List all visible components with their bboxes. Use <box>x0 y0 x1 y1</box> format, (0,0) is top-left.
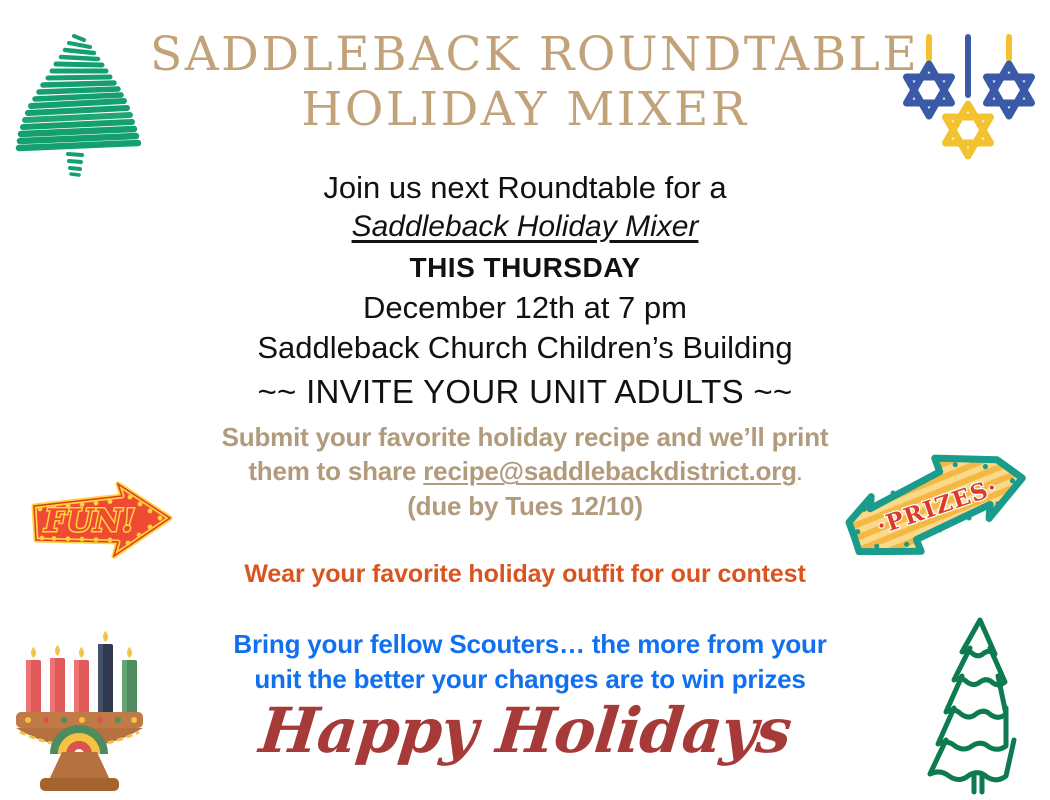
recipe-line-1: Submit your favorite holiday recipe and … <box>120 420 930 454</box>
kinara-flames <box>31 631 132 658</box>
title-line-2: HOLIDAY MIXER <box>150 83 900 138</box>
body-line-date-time: December 12th at 7 pm <box>0 288 1050 328</box>
star-of-david-right <box>987 64 1032 116</box>
star-string-left <box>926 34 932 62</box>
body-line-invite: ~~ INVITE YOUR UNIT ADULTS ~~ <box>0 371 1050 413</box>
flyer-canvas: SADDLEBACK ROUNDTABLE HOLIDAY MIXER Join… <box>0 0 1050 800</box>
recipe-email-link[interactable]: recipe@saddlebackdistrict.org <box>423 456 797 486</box>
recipe-line-2: them to share recipe@saddlebackdistrict.… <box>120 454 930 488</box>
fun-marquee-arrow-icon: FUN! <box>26 478 178 566</box>
costume-contest-note: Wear your favorite holiday outfit for ou… <box>0 560 1050 589</box>
fun-arrow-label: FUN! <box>44 503 136 539</box>
event-details: Join us next Roundtable for a Saddleback… <box>0 168 1050 413</box>
happy-holidays-text: Happy Holidays <box>256 694 794 767</box>
recipe-line-2-suffix: . <box>797 464 802 484</box>
body-line-day: THIS THURSDAY <box>0 250 1050 286</box>
closing-greeting: Happy Holidays <box>0 694 1050 767</box>
star-of-david-center <box>946 104 991 156</box>
scribbled-christmas-tree-icon <box>12 22 152 180</box>
recipe-submission-note: Submit your favorite holiday recipe and … <box>120 420 930 523</box>
recipe-due-date: (due by Tues 12/10) <box>120 489 930 523</box>
body-line-event-name: Saddleback Holiday Mixer <box>0 208 1050 246</box>
star-string-right <box>1006 34 1012 62</box>
scouters-line-2: unit the better your changes are to win … <box>140 662 920 697</box>
recipe-line-2-prefix: them to share <box>248 456 423 486</box>
prizes-double-arrow-icon: ·PRIZES· <box>838 446 1038 564</box>
scouters-line-1: Bring your fellow Scouters… the more fro… <box>140 627 920 662</box>
page-title: SADDLEBACK ROUNDTABLE HOLIDAY MIXER <box>150 28 900 137</box>
star-string-center <box>965 34 971 98</box>
bring-scouters-note: Bring your fellow Scouters… the more fro… <box>140 627 920 697</box>
body-line-location: Saddleback Church Children’s Building <box>0 328 1050 368</box>
body-line-join: Join us next Roundtable for a <box>0 168 1050 208</box>
title-line-1: SADDLEBACK ROUNDTABLE <box>150 28 900 83</box>
